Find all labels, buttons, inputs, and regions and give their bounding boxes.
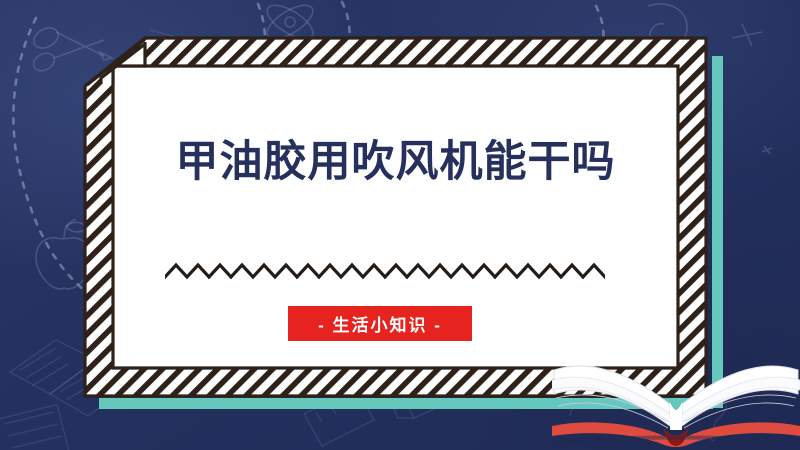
notebook-doodle xyxy=(0,404,69,450)
zigzag-divider xyxy=(165,261,605,283)
apple-doodle xyxy=(36,219,92,289)
sparkle-doodle xyxy=(732,24,772,154)
status-badge: - 生活小知识 - xyxy=(288,306,472,341)
page-title: 甲油胶用吹风机能干吗 xyxy=(113,138,678,187)
card-content: 甲油胶用吹风机能干吗 - 生活小知识 - xyxy=(113,66,678,368)
slide-canvas: 甲油胶用吹风机能干吗 - 生活小知识 - xyxy=(0,0,800,450)
open-book-icon xyxy=(552,352,800,450)
